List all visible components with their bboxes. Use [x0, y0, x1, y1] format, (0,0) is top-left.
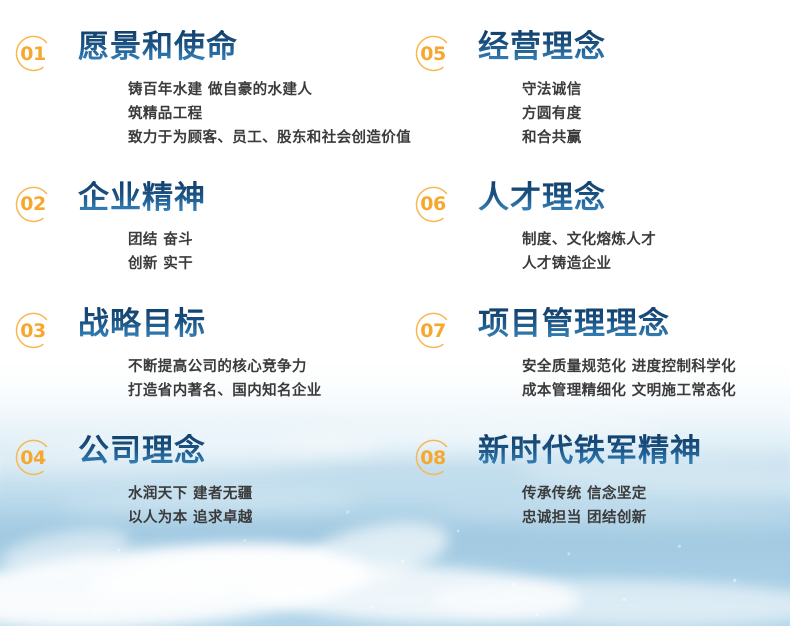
value-line: 致力于为顾客、员工、股东和社会创造价值 — [128, 126, 400, 150]
value-item-04: 04 公司理念 水润天下 建者无疆 以人为本 追求卓越 — [0, 434, 400, 530]
value-line: 忠诚担当 团结创新 — [522, 506, 790, 530]
number-badge-label: 07 — [412, 310, 454, 352]
values-column-right: 05 经营理念 守法诚信 方圆有度 和合共赢 06 人才理念 — [400, 0, 790, 530]
number-badge-label: 03 — [12, 310, 54, 352]
wave-foam — [0, 533, 372, 626]
value-item-08: 08 新时代铁军精神 传承传统 信念坚定 忠诚担当 团结创新 — [400, 434, 790, 530]
number-badge-05: 05 — [412, 33, 454, 75]
number-badge-03: 03 — [12, 310, 54, 352]
value-lines: 不断提高公司的核心竞争力 打造省内著名、国内知名企业 — [78, 355, 400, 403]
value-lines: 团结 奋斗 创新 实干 — [78, 228, 400, 276]
value-line: 不断提高公司的核心竞争力 — [128, 355, 400, 379]
value-heading: 人才理念 — [478, 181, 606, 216]
wave-foam — [430, 577, 790, 626]
value-heading: 战略目标 — [78, 307, 206, 342]
values-column-left: 01 愿景和使命 铸百年水建 做自豪的水建人 筑精品工程 致力于为顾客、员工、股… — [0, 0, 400, 530]
value-item-06: 06 人才理念 制度、文化熔炼人才 人才铸造企业 — [400, 181, 790, 277]
value-line: 团结 奋斗 — [128, 228, 400, 252]
number-badge-label: 08 — [412, 437, 454, 479]
value-heading: 新时代铁军精神 — [478, 434, 702, 469]
value-lines: 传承传统 信念坚定 忠诚担当 团结创新 — [478, 482, 790, 530]
number-badge-07: 07 — [412, 310, 454, 352]
value-lines: 制度、文化熔炼人才 人才铸造企业 — [478, 228, 790, 276]
number-badge-label: 01 — [12, 33, 54, 75]
number-badge-label: 02 — [12, 184, 54, 226]
value-line: 成本管理精细化 文明施工常态化 — [522, 379, 790, 403]
value-lines: 水润天下 建者无疆 以人为本 追求卓越 — [78, 482, 400, 530]
value-line: 守法诚信 — [522, 78, 790, 102]
value-line: 创新 实干 — [128, 252, 400, 276]
number-badge-label: 05 — [412, 33, 454, 75]
value-heading: 公司理念 — [78, 434, 206, 469]
culture-values-poster: 01 愿景和使命 铸百年水建 做自豪的水建人 筑精品工程 致力于为顾客、员工、股… — [0, 0, 790, 626]
value-line: 安全质量规范化 进度控制科学化 — [522, 355, 790, 379]
number-badge-label: 06 — [412, 184, 454, 226]
value-line: 人才铸造企业 — [522, 252, 790, 276]
value-lines: 铸百年水建 做自豪的水建人 筑精品工程 致力于为顾客、员工、股东和社会创造价值 — [78, 78, 400, 150]
value-lines: 守法诚信 方圆有度 和合共赢 — [478, 78, 790, 150]
value-item-03: 03 战略目标 不断提高公司的核心竞争力 打造省内著名、国内知名企业 — [0, 307, 400, 403]
value-item-07: 07 项目管理理念 安全质量规范化 进度控制科学化 成本管理精细化 文明施工常态… — [400, 307, 790, 403]
value-lines: 安全质量规范化 进度控制科学化 成本管理精细化 文明施工常态化 — [478, 355, 790, 403]
number-badge-04: 04 — [12, 437, 54, 479]
value-line: 筑精品工程 — [128, 102, 400, 126]
value-line: 打造省内著名、国内知名企业 — [128, 379, 400, 403]
value-heading: 经营理念 — [478, 30, 606, 65]
number-badge-01: 01 — [12, 33, 54, 75]
number-badge-02: 02 — [12, 184, 54, 226]
value-line: 传承传统 信念坚定 — [522, 482, 790, 506]
value-line: 水润天下 建者无疆 — [128, 482, 400, 506]
wave-foam — [249, 560, 581, 626]
value-item-02: 02 企业精神 团结 奋斗 创新 实干 — [0, 181, 400, 277]
value-line: 以人为本 追求卓越 — [128, 506, 400, 530]
number-badge-label: 04 — [12, 437, 54, 479]
value-heading: 企业精神 — [78, 181, 206, 216]
value-item-05: 05 经营理念 守法诚信 方圆有度 和合共赢 — [400, 30, 790, 150]
values-grid: 01 愿景和使命 铸百年水建 做自豪的水建人 筑精品工程 致力于为顾客、员工、股… — [0, 0, 790, 530]
number-badge-06: 06 — [412, 184, 454, 226]
number-badge-08: 08 — [412, 437, 454, 479]
value-line: 铸百年水建 做自豪的水建人 — [128, 78, 400, 102]
value-heading: 项目管理理念 — [478, 307, 670, 342]
value-line: 制度、文化熔炼人才 — [522, 228, 790, 252]
value-line: 方圆有度 — [522, 102, 790, 126]
wave-foam — [88, 536, 332, 613]
value-line: 和合共赢 — [522, 126, 790, 150]
value-heading: 愿景和使命 — [78, 30, 238, 65]
value-item-01: 01 愿景和使命 铸百年水建 做自豪的水建人 筑精品工程 致力于为顾客、员工、股… — [0, 30, 400, 150]
